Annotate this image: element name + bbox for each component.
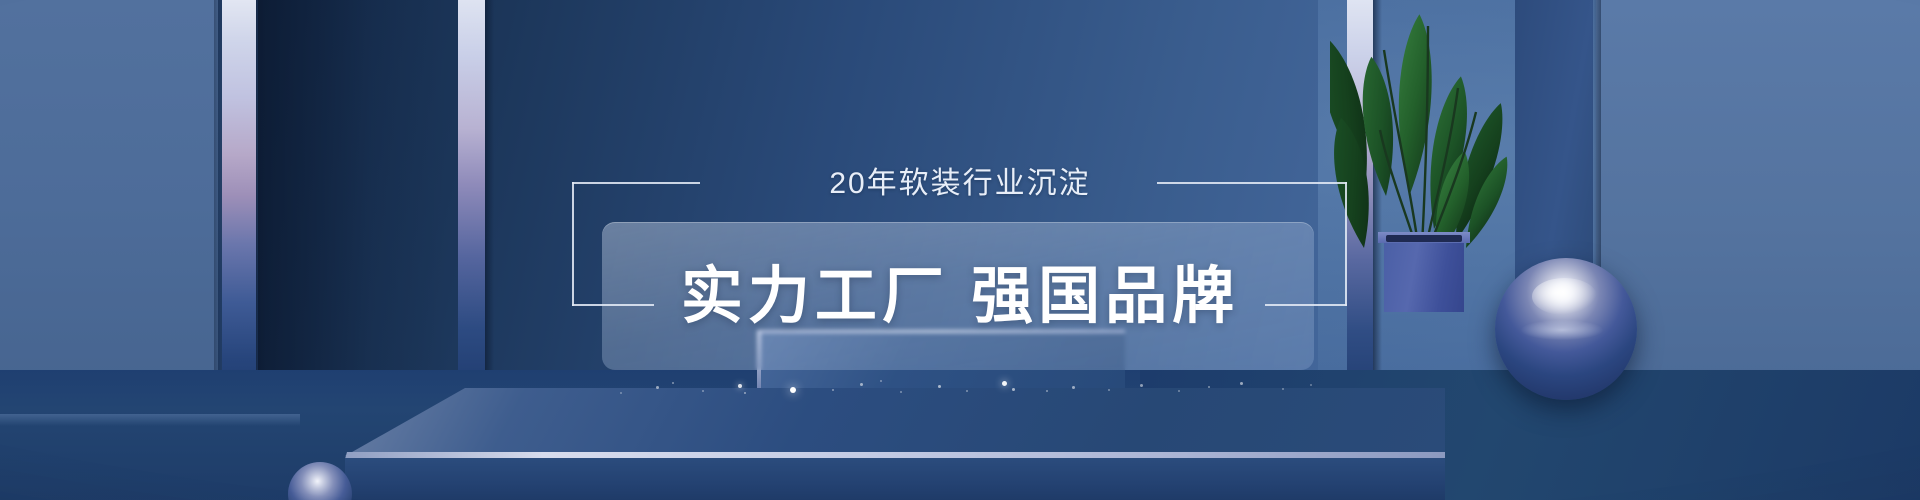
left-wall-panel (0, 0, 218, 408)
hero-banner: 20年软装行业沉淀 实力工厂 强国品牌 (0, 0, 1920, 500)
display-podium (345, 388, 1445, 500)
metal-column-left (222, 0, 256, 408)
banner-headline: 实力工厂 强国品牌 (0, 245, 1920, 335)
banner-subtitle: 20年软装行业沉淀 (0, 158, 1920, 202)
niche-shadow (258, 0, 448, 418)
plant-pot-soil (1386, 235, 1462, 242)
podium-top-surface (345, 388, 1445, 456)
podium-front-face (345, 458, 1445, 500)
floor-light-streak (0, 414, 300, 426)
